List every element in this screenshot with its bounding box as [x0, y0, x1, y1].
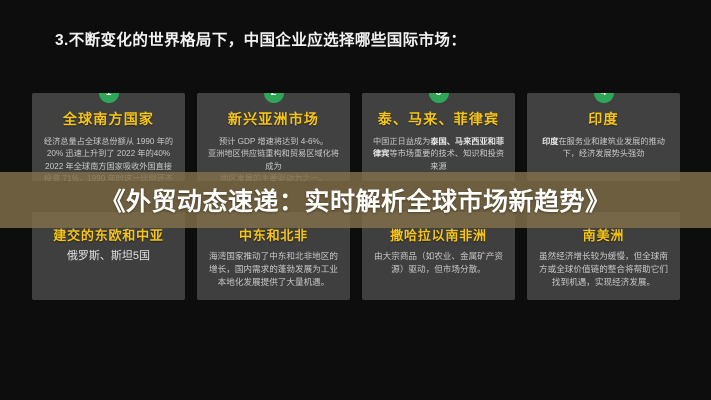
card-body: 虽然经济增长较为缓慢，但全球南方或全球价值链的整合将帮助它们找到机遇，实现经济发… — [535, 250, 672, 289]
card-title: 全球南方国家 — [40, 109, 177, 129]
card-body-line: 亚洲地区供应链重构和贸易区域化将成为 — [207, 148, 340, 173]
watermark-title: 《外贸动态速递：实时解析全球市场新趋势》 — [0, 172, 711, 228]
card-number-badge: 1 — [99, 93, 119, 103]
card-body: 海湾国家推动了中东和北非地区的增长，国内需求的蓬勃发展为工业本地化发展提供了大量… — [205, 250, 342, 289]
market-card-emerging-asia[interactable]: 2 新兴亚洲市场 预计 GDP 增速将达到 4-6%。 亚洲地区供应链重构和贸易… — [197, 93, 350, 181]
card-title: 印度 — [535, 109, 672, 129]
page-title: 3.不断变化的世界格局下，中国企业应选择哪些国际市场： — [55, 28, 466, 50]
card-title: 泰、马来、菲律宾 — [370, 109, 507, 129]
market-card-thailand-malaysia-philippines[interactable]: 3 泰、马来、菲律宾 中国正日益成为泰国、马来西亚和菲律宾等市场重要的技术、知识… — [362, 93, 515, 181]
card-title: 新兴亚洲市场 — [205, 109, 342, 129]
card-number-badge: 4 — [594, 93, 614, 103]
market-card-india[interactable]: 4 印度 印度在服务业和建筑业发展的推动下，经济发展势头强劲 — [527, 93, 680, 181]
market-card-global-south[interactable]: 1 全球南方国家 经济总量占全球总份额从 1990 年的20% 迅速上升到了 2… — [32, 93, 185, 181]
card-body: 由大宗商品（如农业、金属矿产资源）驱动，但市场分散。 — [370, 250, 507, 276]
card-number-badge: 3 — [429, 93, 449, 103]
card-body: 俄罗斯、斯坦5国 — [40, 250, 177, 263]
card-number-badge: 2 — [264, 93, 284, 103]
card-body-line: 预计 GDP 增速将达到 4-6%。 — [207, 136, 340, 148]
card-body: 印度在服务业和建筑业发展的推动下，经济发展势头强劲 — [535, 136, 672, 161]
infographic-slide: 3.不断变化的世界格局下，中国企业应选择哪些国际市场： 1 全球南方国家 经济总… — [0, 0, 711, 400]
card-body: 中国正日益成为泰国、马来西亚和菲律宾等市场重要的技术、知识和投资来源 — [370, 136, 507, 173]
